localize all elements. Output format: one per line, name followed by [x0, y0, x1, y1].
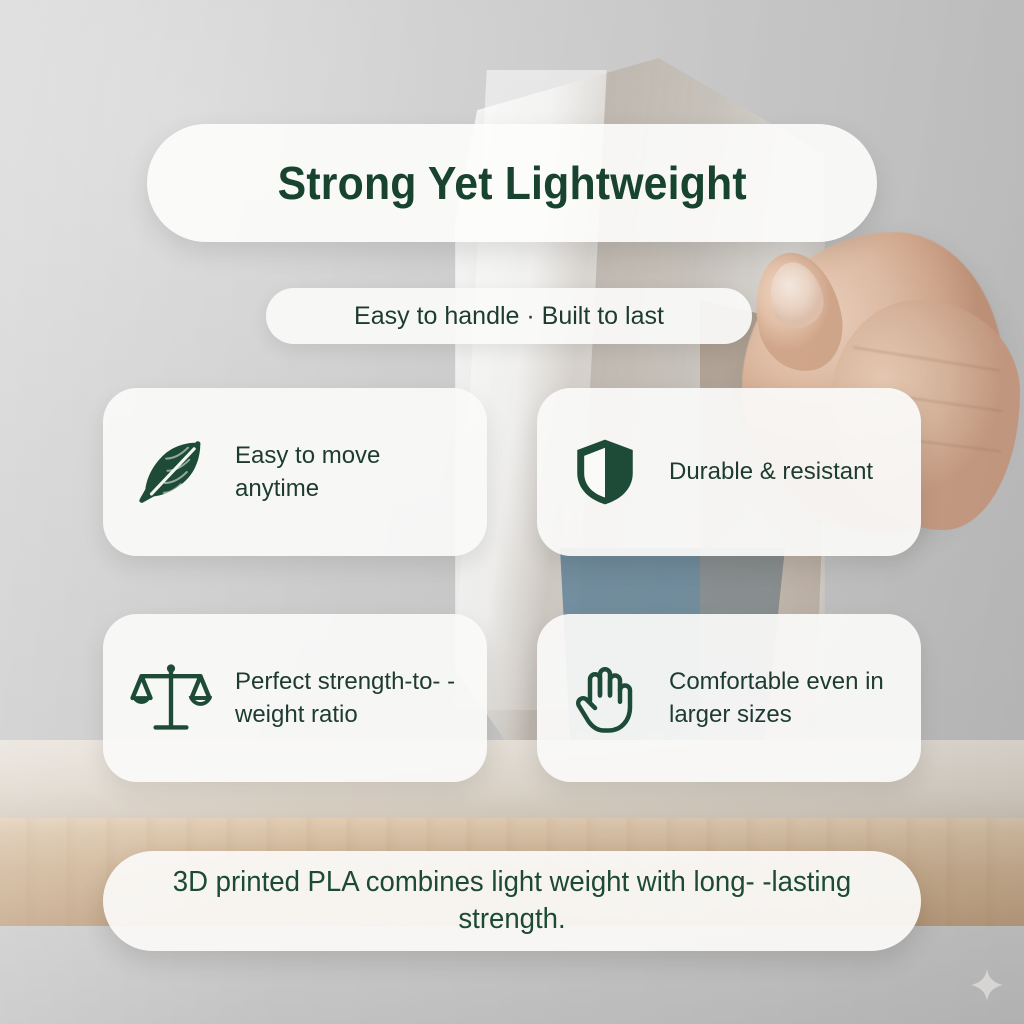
open-hand-icon	[559, 652, 651, 744]
footer-text: 3D printed PLA combines light weight wit…	[161, 864, 864, 937]
sparkle-icon	[970, 968, 1004, 1002]
feature-card-durable[interactable]: Durable & resistant	[537, 388, 921, 556]
feature-label: Comfortable even in larger sizes	[669, 665, 897, 731]
shield-icon	[559, 426, 651, 518]
page-title: Strong Yet Lightweight	[277, 156, 746, 210]
feather-icon	[125, 426, 217, 518]
feature-card-strength-ratio[interactable]: Perfect strength-to- -weight ratio	[103, 614, 487, 782]
footer-pill: 3D printed PLA combines light weight wit…	[103, 851, 921, 951]
title-pill: Strong Yet Lightweight	[147, 124, 877, 242]
page-subtitle: Easy to handle · Built to last	[354, 302, 664, 331]
subtitle-pill: Easy to handle · Built to last	[266, 288, 752, 344]
infographic-canvas: Strong Yet Lightweight Easy to handle · …	[0, 0, 1024, 1024]
feature-card-easy-to-move[interactable]: Easy to move anytime	[103, 388, 487, 556]
feature-card-comfortable[interactable]: Comfortable even in larger sizes	[537, 614, 921, 782]
scales-icon	[125, 652, 217, 744]
feature-label: Durable & resistant	[669, 455, 873, 488]
feature-label: Perfect strength-to- -weight ratio	[235, 665, 463, 731]
feature-label: Easy to move anytime	[235, 439, 463, 505]
